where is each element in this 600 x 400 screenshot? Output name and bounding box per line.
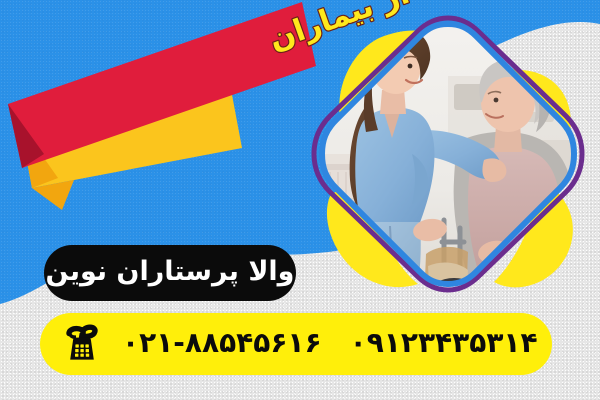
brand-name-label: والا پرستاران نوین: [46, 258, 295, 289]
nurse-patient-photo: [308, 14, 588, 304]
contact-bar: ۰۲۱-۸۸۵۴۵۶۱۶ ۰۹۱۲۳۴۳۵۳۱۴: [40, 313, 552, 375]
headline-ribbon: خدمات پرستاری از بیماران: [0, 0, 314, 211]
telephone-icon: [62, 324, 102, 364]
promo-banner: خدمات پرستاری از بیماران والا پرستاران ن…: [0, 0, 600, 400]
mobile-number[interactable]: ۰۹۱۲۳۴۳۵۳۱۴: [350, 329, 538, 360]
landline-number[interactable]: ۰۲۱-۸۸۵۴۵۶۱۶: [122, 329, 322, 360]
brand-name-pill: والا پرستاران نوین: [44, 245, 296, 301]
